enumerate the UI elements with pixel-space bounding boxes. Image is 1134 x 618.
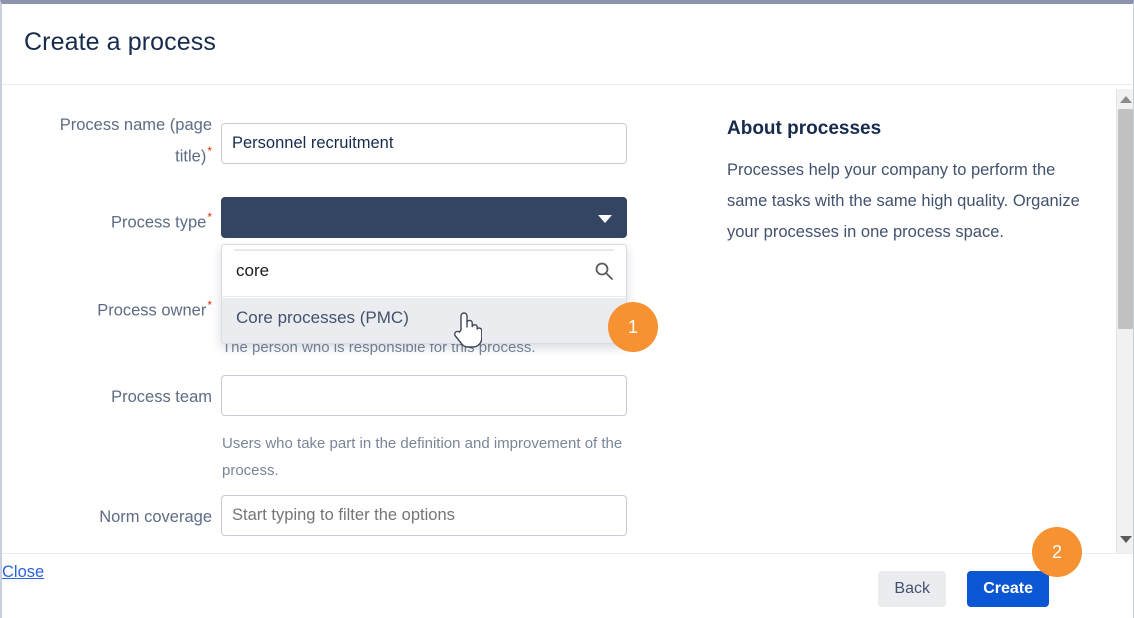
- process-name-input[interactable]: [221, 123, 627, 164]
- create-process-dialog: Create a process Process name (page titl…: [0, 0, 1134, 618]
- process-form: Process name (page title)* Process type*…: [2, 89, 702, 553]
- back-button[interactable]: Back: [878, 571, 946, 607]
- dropdown-option-core-processes[interactable]: Core processes (PMC): [222, 298, 626, 344]
- create-button[interactable]: Create: [967, 571, 1049, 607]
- process-team-input[interactable]: [221, 375, 627, 416]
- required-asterisk-process-name: *: [207, 144, 212, 158]
- dropdown-search-row[interactable]: core: [222, 249, 626, 297]
- chevron-down-icon: [598, 215, 612, 223]
- page-title: Create a process: [24, 28, 216, 57]
- dialog-footer: Back Create Close: [2, 553, 1133, 618]
- required-asterisk-process-owner: *: [207, 298, 212, 312]
- about-processes-title: About processes: [727, 118, 881, 140]
- label-process-name: Process name (page title)*: [22, 112, 212, 170]
- close-link[interactable]: Close: [2, 563, 44, 581]
- label-process-team: Process team: [22, 384, 212, 410]
- step-badge-2: 2: [1032, 527, 1082, 577]
- label-process-owner: Process owner*: [22, 292, 212, 324]
- dialog-body: Process name (page title)* Process type*…: [2, 89, 1133, 553]
- required-asterisk-process-type: *: [207, 210, 212, 224]
- label-process-type: Process type*: [22, 204, 212, 236]
- scrollbar-thumb[interactable]: [1118, 109, 1133, 329]
- dialog-header: Create a process: [2, 4, 1133, 85]
- process-type-select[interactable]: [221, 197, 627, 238]
- dropdown-top-rule: [234, 249, 614, 251]
- search-icon: [594, 261, 614, 281]
- dropdown-search-input[interactable]: core: [236, 261, 269, 281]
- step-badge-1: 1: [608, 302, 658, 352]
- process-type-dropdown-panel: core Core processes (PMC): [221, 244, 627, 344]
- label-norm-coverage: Norm coverage: [22, 504, 212, 530]
- about-processes-body: Processes help your company to perform t…: [727, 155, 1082, 248]
- vertical-scrollbar[interactable]: [1116, 89, 1133, 553]
- dropdown-option-label: Core processes (PMC): [236, 308, 409, 328]
- scroll-up-arrow-icon[interactable]: [1117, 91, 1134, 108]
- hint-process-team: Users who take part in the definition an…: [222, 430, 662, 484]
- norm-coverage-input[interactable]: [221, 495, 627, 536]
- scroll-down-arrow-icon[interactable]: [1117, 531, 1134, 548]
